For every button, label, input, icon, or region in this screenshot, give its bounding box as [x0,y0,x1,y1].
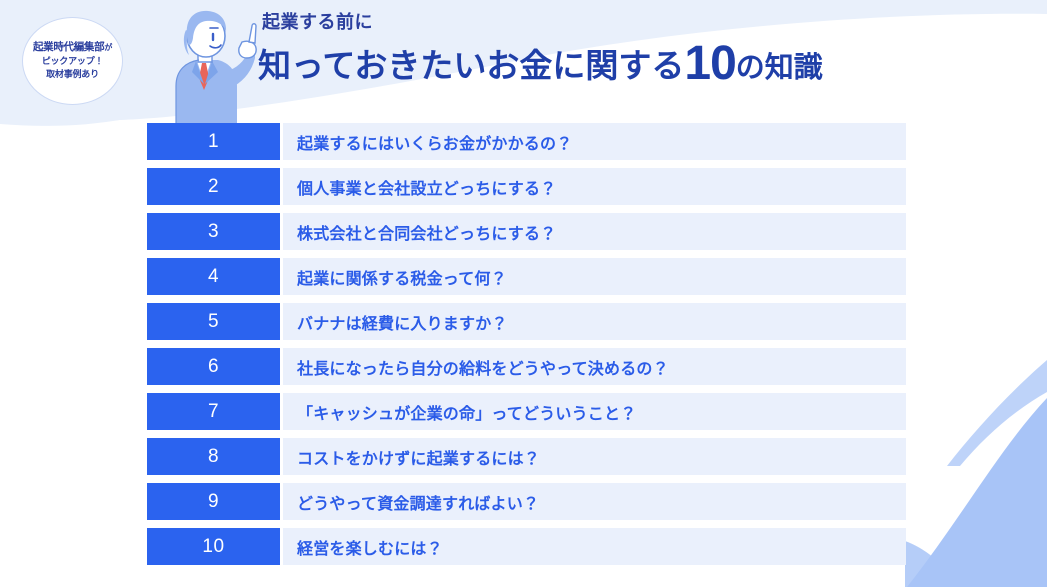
list-item-body: どうやって資金調達すればよい？ [283,483,906,520]
row-left-spacer [0,393,147,430]
list-item-number: 6 [147,348,280,385]
title-eyebrow: 起業する前に [262,12,1018,34]
title-part-two: の知識 [736,52,823,84]
row-left-spacer [0,528,147,565]
row-left-spacer [0,168,147,205]
badge-line-2: ピックアップ！ [42,55,104,69]
row-left-spacer [0,438,147,475]
list-item-body: 個人事業と会社設立どっちにする？ [283,168,906,205]
row-left-spacer [0,123,147,160]
badge-line-1: 起業時代編集部が [33,41,112,54]
list-item[interactable]: 8 コストをかけずに起業するには？ [0,438,1047,475]
list-item[interactable]: 3 株式会社と合同会社どっちにする？ [0,213,1047,250]
list-item[interactable]: 10 経営を楽しむには？ [0,528,1047,565]
list-item-number: 7 [147,393,280,430]
list-item-number: 1 [147,123,280,160]
list-item[interactable]: 6 社長になったら自分の給料をどうやって決めるの？ [0,348,1047,385]
pointing-businessman-icon [142,8,264,123]
editorial-pickup-badge: 起業時代編集部が ピックアップ！ 取材事例あり [22,17,123,105]
list-item[interactable]: 4 起業に関係する税金って何？ [0,258,1047,295]
title-block: 起業する前に 知っておきたいお金に関する10の知識 [258,12,1018,91]
list-item-body: 起業に関係する税金って何？ [283,258,906,295]
row-left-spacer [0,483,147,520]
list-item-label: 経営を楽しむには？ [297,535,443,559]
list-item-number: 9 [147,483,280,520]
header: 起業時代編集部が ピックアップ！ 取材事例あり [0,0,1047,120]
list-item-number: 10 [147,528,280,565]
list-item-body: 「キャッシュが企業の命」ってどういうこと？ [283,393,906,430]
title-part-one: 知っておきたいお金に関する [258,47,684,84]
row-left-spacer [0,348,147,385]
list-item-body: 社長になったら自分の給料をどうやって決めるの？ [283,348,906,385]
list-item-label: 起業するにはいくらお金がかかるの？ [297,130,572,154]
list-item-label: 株式会社と合同会社どっちにする？ [297,220,556,244]
list-item-number: 8 [147,438,280,475]
list-item-label: バナナは経費に入りますか？ [297,310,508,334]
list-item-body: 株式会社と合同会社どっちにする？ [283,213,906,250]
list-item-number: 5 [147,303,280,340]
badge-line-1-suffix: が [104,43,112,52]
list-item-label: 起業に関係する税金って何？ [297,265,507,289]
list-item-label: 社長になったら自分の給料をどうやって決めるの？ [297,355,669,379]
page-title: 知っておきたいお金に関する10の知識 [258,36,1018,91]
list-item[interactable]: 2 個人事業と会社設立どっちにする？ [0,168,1047,205]
infographic-canvas: 起業時代編集部が ピックアップ！ 取材事例あり [0,0,1047,587]
list-item-number: 2 [147,168,280,205]
row-left-spacer [0,303,147,340]
list-item-body: コストをかけずに起業するには？ [283,438,906,475]
knowledge-list: 1 起業するにはいくらお金がかかるの？ 2 個人事業と会社設立どっちにする？ 3… [0,123,1047,573]
row-left-spacer [0,258,147,295]
list-item-label: どうやって資金調達すればよい？ [297,490,539,514]
list-item-label: 個人事業と会社設立どっちにする？ [297,175,556,199]
list-item[interactable]: 9 どうやって資金調達すればよい？ [0,483,1047,520]
list-item-body: 起業するにはいくらお金がかかるの？ [283,123,906,160]
badge-line-1-main: 起業時代編集部 [33,41,104,53]
list-item[interactable]: 5 バナナは経費に入りますか？ [0,303,1047,340]
list-item-number: 3 [147,213,280,250]
list-item-label: 「キャッシュが企業の命」ってどういうこと？ [297,400,636,424]
row-left-spacer [0,213,147,250]
list-item-body: 経営を楽しむには？ [283,528,906,565]
list-item-label: コストをかけずに起業するには？ [297,445,540,469]
badge-line-3: 取材事例あり [46,68,99,81]
list-item-number: 4 [147,258,280,295]
title-number: 10 [684,37,735,90]
list-item-body: バナナは経費に入りますか？ [283,303,906,340]
list-item[interactable]: 7 「キャッシュが企業の命」ってどういうこと？ [0,393,1047,430]
list-item[interactable]: 1 起業するにはいくらお金がかかるの？ [0,123,1047,160]
